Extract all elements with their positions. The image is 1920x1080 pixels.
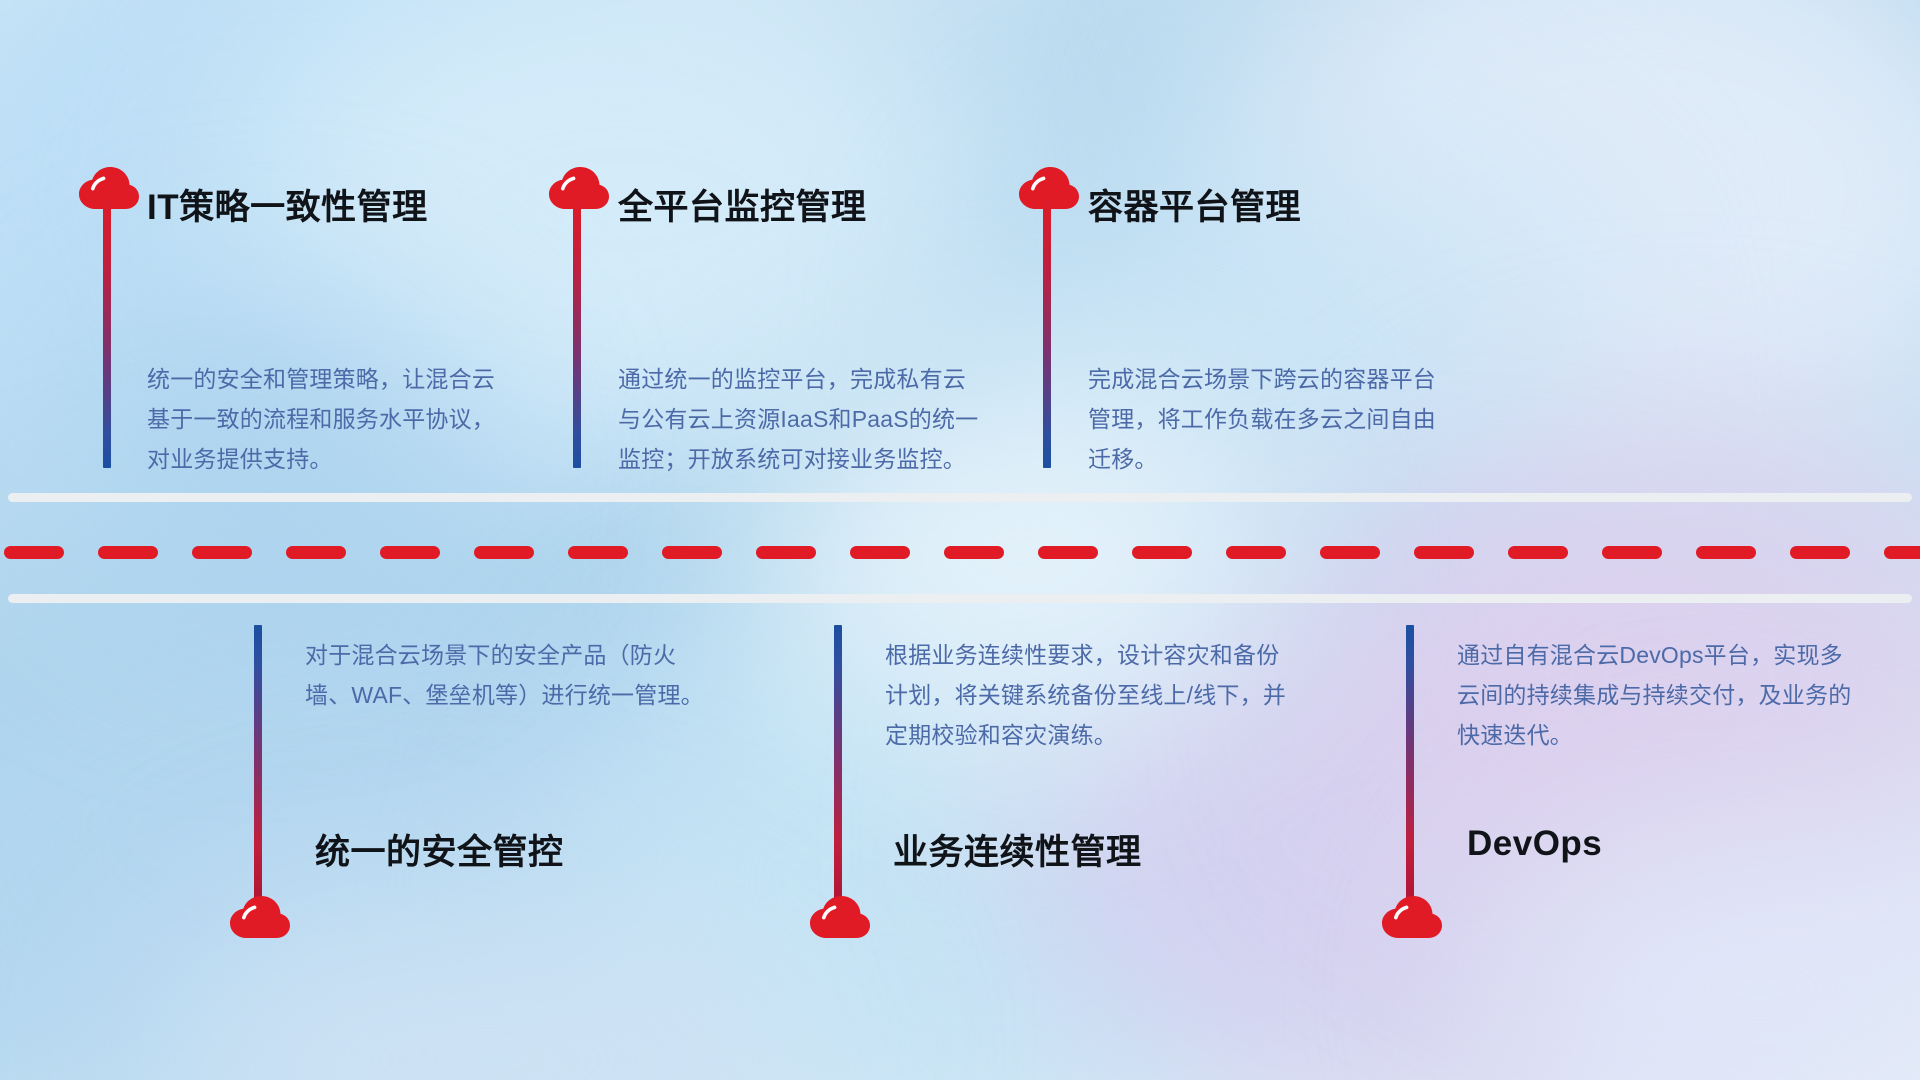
road-dash-segment — [1790, 546, 1850, 559]
road-dash-segment — [1696, 546, 1756, 559]
road-dash-segment — [1414, 546, 1474, 559]
road-dash-segment — [662, 546, 722, 559]
item-heading: 业务连续性管理 — [893, 824, 1142, 875]
timeline-stem — [103, 196, 111, 468]
cloud-icon — [809, 891, 871, 939]
road-dash-segment — [1038, 546, 1098, 559]
cloud-icon — [229, 891, 291, 939]
road-dash-segment — [850, 546, 910, 559]
road-dash-segment — [1320, 546, 1380, 559]
road-dash-segment — [286, 546, 346, 559]
road-dash-segment — [98, 546, 158, 559]
item-description: 统一的安全和管理策略，让混合云基于一致的流程和服务水平协议，对业务提供支持。 — [147, 359, 502, 479]
timeline-stem — [1043, 196, 1051, 468]
item-description: 通过统一的监控平台，完成私有云与公有云上资源IaaS和PaaS的统一监控；开放系… — [618, 359, 982, 479]
road-dash-segment — [1884, 546, 1920, 559]
road-line-top — [8, 493, 1912, 502]
road-dash-segment — [944, 546, 1004, 559]
item-heading: 全平台监控管理 — [618, 179, 867, 230]
road-dash-segment — [756, 546, 816, 559]
road-dash-segment — [1226, 546, 1286, 559]
road-dash-segment — [192, 546, 252, 559]
road-line-bottom — [8, 594, 1912, 603]
item-description: 根据业务连续性要求，设计容灾和备份计划，将关键系统备份至线上/线下，并定期校验和… — [885, 635, 1295, 755]
road-dash-segment — [1602, 546, 1662, 559]
road-dashed-centerline — [0, 546, 1920, 559]
timeline-stem — [1406, 625, 1414, 905]
infographic-stage: IT策略一致性管理 统一的安全和管理策略，让混合云基于一致的流程和服务水平协议，… — [0, 0, 1920, 1080]
timeline-stem — [573, 196, 581, 468]
item-description: 通过自有混合云DevOps平台，实现多云间的持续集成与持续交付，及业务的快速迭代… — [1457, 635, 1857, 755]
timeline-stem — [834, 625, 842, 905]
road-dash-segment — [1132, 546, 1192, 559]
item-description: 对于混合云场景下的安全产品（防火墙、WAF、堡垒机等）进行统一管理。 — [305, 635, 705, 715]
item-heading: 统一的安全管控 — [315, 824, 564, 875]
item-heading: IT策略一致性管理 — [147, 179, 428, 230]
item-heading: 容器平台管理 — [1088, 179, 1301, 230]
road-dash-segment — [568, 546, 628, 559]
item-description: 完成混合云场景下跨云的容器平台管理，将工作负载在多云之间自由迁移。 — [1088, 359, 1452, 479]
road-dash-segment — [4, 546, 64, 559]
item-heading: DevOps — [1467, 824, 1602, 864]
road-dash-segment — [380, 546, 440, 559]
cloud-icon — [1381, 891, 1443, 939]
timeline-stem — [254, 625, 262, 905]
road-dash-segment — [1508, 546, 1568, 559]
road-dash-segment — [474, 546, 534, 559]
